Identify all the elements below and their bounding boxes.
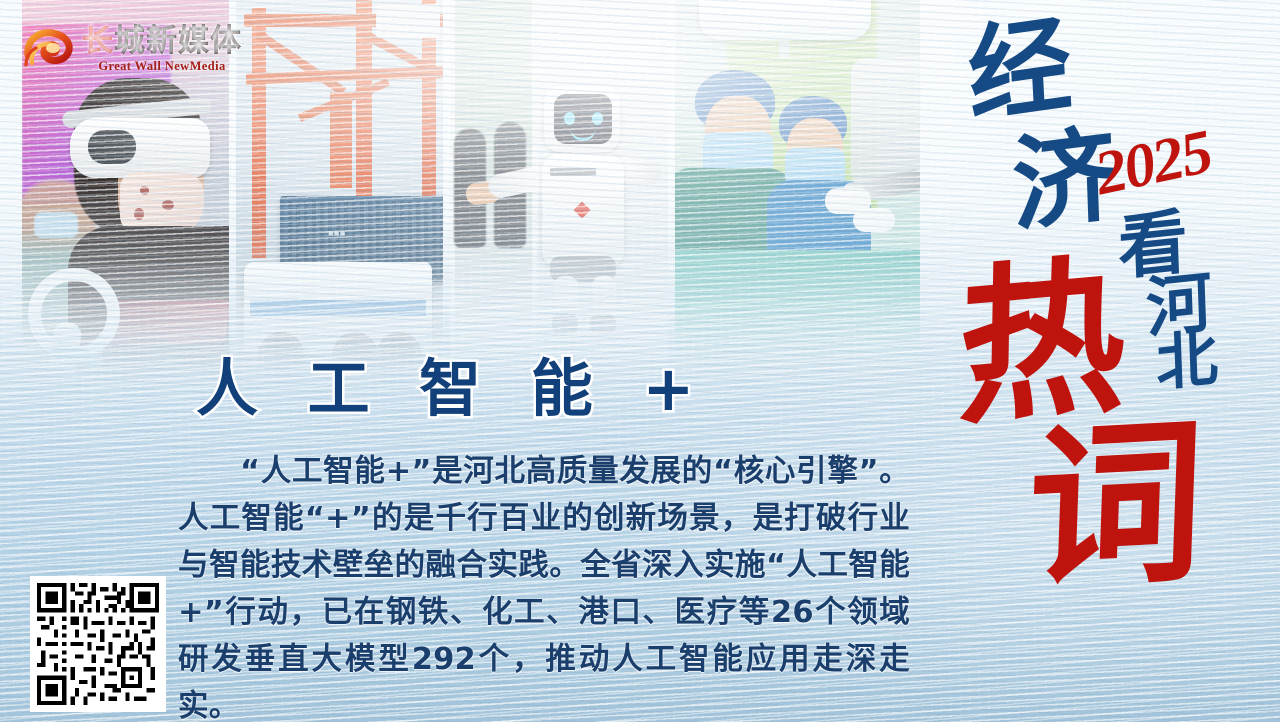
photo-robot-fade [450,0,668,392]
photo-surgery-fade [675,0,920,392]
qr-code[interactable] [30,576,166,712]
page-title: 人 工 智 能 + [196,338,708,428]
calligraphy-char-jing: 经 [966,11,1074,130]
poster-canvas: ■■■ [0,0,1280,722]
brand-logo[interactable]: 长城新媒体 Great Wall NewMedia [22,25,242,73]
body-paragraph: “人工智能+”是河北高质量发展的“核心引擎”。人工智能“+”的是千行百业的创新场… [178,448,910,722]
photo-humanoid-robot [450,0,668,392]
brand-name-cn-red: 长 [82,23,114,59]
photo-surgery [675,0,920,392]
photo-port-fade [236,0,443,392]
brand-name-cn-black: 城新媒体 [114,23,242,59]
brand-wordmark: 长城新媒体 Great Wall NewMedia [82,26,242,73]
great-wall-swirl-icon [22,25,76,73]
calligraphy-char-ci: 词 [1025,413,1207,599]
brand-name-en: Great Wall NewMedia [82,60,242,73]
qr-code-graphic [37,583,159,705]
calligraphy-series-title: 经 济 2025 看 河 北 热 词 [950,0,1280,722]
brand-name-cn: 长城新媒体 [82,26,242,57]
calligraphy-char-bei: 北 [1155,327,1219,396]
photo-port-crane: ■■■ [236,0,443,392]
